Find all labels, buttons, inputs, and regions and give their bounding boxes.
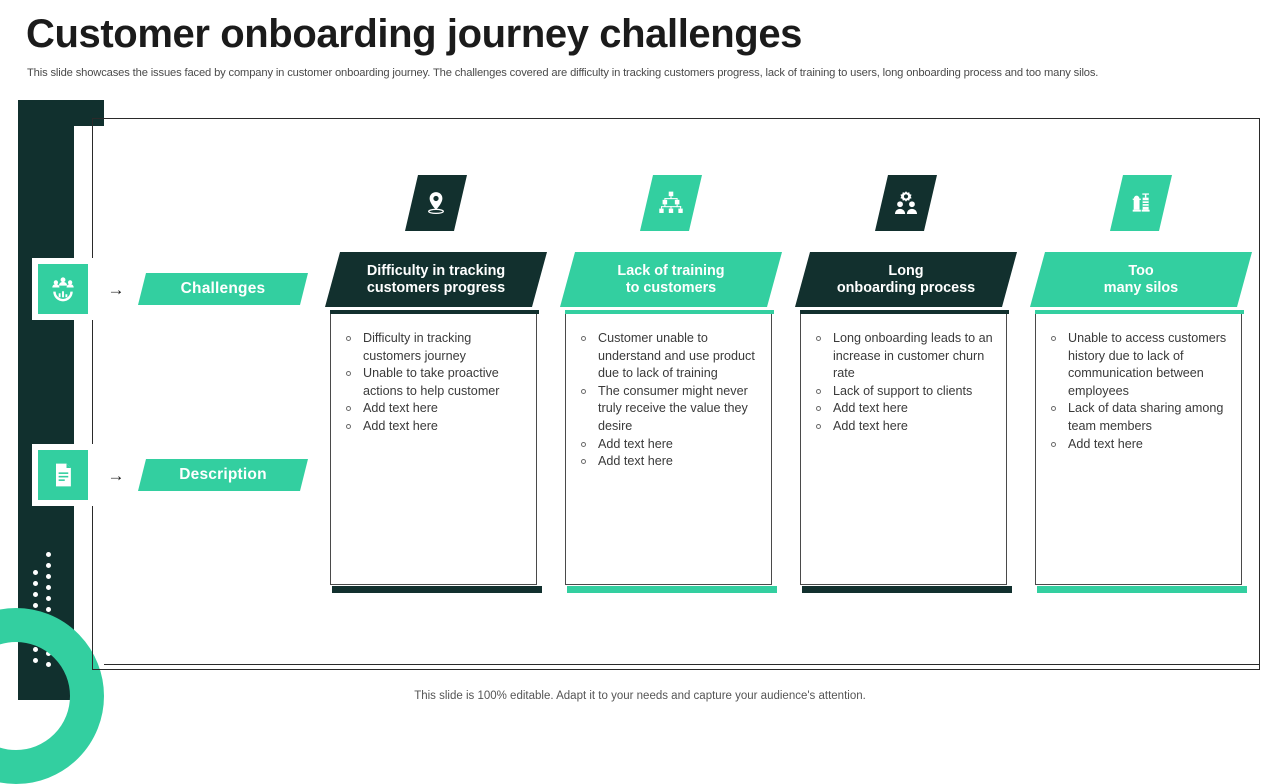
list-item: Add text here [341, 400, 528, 418]
bullet-list: Customer unable to understand and use pr… [576, 330, 763, 471]
column-title-line1: Long [888, 263, 923, 280]
column-card: Customer unable to understand and use pr… [565, 313, 772, 585]
document-icon [38, 450, 88, 500]
column-card: Unable to access customers history due t… [1035, 313, 1242, 585]
team-analytics-icon [38, 264, 88, 314]
arrow-right-icon: → [94, 467, 138, 484]
page-subtitle: This slide showcases the issues faced by… [27, 66, 1242, 80]
org-hierarchy-icon [640, 175, 702, 231]
column-header-banner: Difficulty in tracking customers progres… [325, 252, 547, 307]
column-header-banner: Too many silos [1030, 252, 1252, 307]
column-card: Difficulty in tracking customers journey… [330, 313, 537, 585]
column-title-line2: to customers [626, 280, 716, 297]
list-item: Difficulty in tracking customers journey [341, 330, 528, 365]
column-long-onboarding[interactable]: Long onboarding process Long onboarding … [800, 175, 1012, 585]
card-bottom-accent [567, 586, 777, 593]
list-item: Customer unable to understand and use pr… [576, 330, 763, 383]
footer-divider [104, 664, 1260, 665]
column-title-line1: Too [1128, 263, 1153, 280]
column-title-line2: customers progress [367, 280, 505, 297]
column-header-banner: Lack of training to customers [560, 252, 782, 307]
list-item: Lack of support to clients [811, 383, 998, 401]
column-title-line1: Lack of training [617, 263, 724, 280]
rail-item-challenges[interactable]: → Challenges [32, 258, 308, 320]
bullet-list: Unable to access customers history due t… [1046, 330, 1233, 453]
list-item: Add text here [811, 400, 998, 418]
list-item: The consumer might never truly receive t… [576, 383, 763, 436]
list-item: Add text here [1046, 436, 1233, 454]
card-bottom-accent [1037, 586, 1247, 593]
list-item: Add text here [811, 418, 998, 436]
column-title-line2: onboarding process [837, 280, 975, 297]
list-item: Unable to take proactive actions to help… [341, 365, 528, 400]
column-card: Long onboarding leads to an increase in … [800, 313, 1007, 585]
rail-item-description[interactable]: → Description [32, 444, 308, 506]
list-item: Unable to access customers history due t… [1046, 330, 1233, 400]
list-item: Lack of data sharing among team members [1046, 400, 1233, 435]
card-bottom-accent [802, 586, 1012, 593]
silo-storage-icon [1110, 175, 1172, 231]
footer-note: This slide is 100% editable. Adapt it to… [0, 690, 1280, 702]
bullet-list: Difficulty in tracking customers journey… [341, 330, 528, 436]
list-item: Long onboarding leads to an increase in … [811, 330, 998, 383]
column-title-line1: Difficulty in tracking [367, 263, 505, 280]
column-title-line2: many silos [1104, 280, 1178, 297]
column-too-many-silos[interactable]: Too many silos Unable to access customer… [1035, 175, 1247, 585]
card-top-accent [330, 310, 539, 314]
page-title: Customer onboarding journey challenges [26, 12, 802, 57]
arrow-right-icon: → [94, 281, 138, 298]
column-header-banner: Long onboarding process [795, 252, 1017, 307]
list-item: Add text here [341, 418, 528, 436]
rail-icon-wrapper [32, 258, 94, 320]
list-item: Add text here [576, 436, 763, 454]
card-top-accent [565, 310, 774, 314]
column-lack-of-training[interactable]: Lack of training to customers Customer u… [565, 175, 777, 585]
team-gear-icon [875, 175, 937, 231]
list-item: Add text here [576, 453, 763, 471]
card-top-accent [800, 310, 1009, 314]
column-difficulty-tracking[interactable]: Difficulty in tracking customers progres… [330, 175, 542, 585]
rail-label-challenges: Challenges [138, 273, 308, 305]
card-top-accent [1035, 310, 1244, 314]
card-bottom-accent [332, 586, 542, 593]
bullet-list: Long onboarding leads to an increase in … [811, 330, 998, 436]
location-pin-icon [405, 175, 467, 231]
rail-label-description: Description [138, 459, 308, 491]
rail-icon-wrapper [32, 444, 94, 506]
